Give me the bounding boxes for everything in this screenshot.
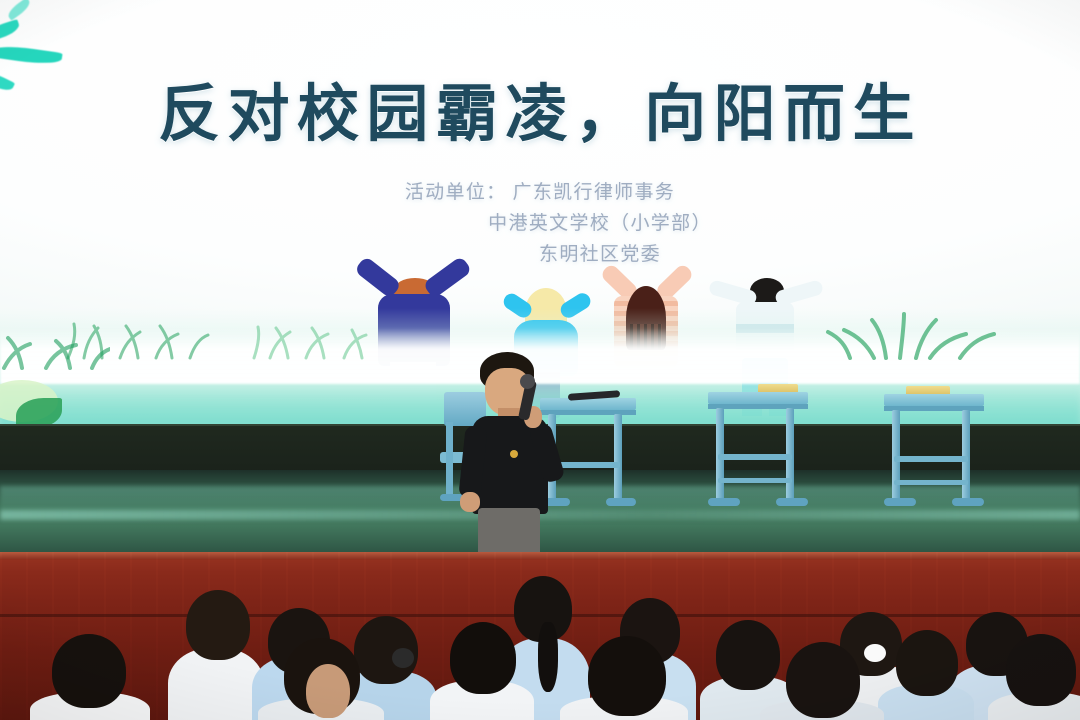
desk-right xyxy=(884,394,984,512)
student-hair-clip xyxy=(392,648,414,668)
desk-foot xyxy=(606,498,636,506)
desk-rail xyxy=(718,454,792,460)
desk-leg xyxy=(962,410,970,500)
student-head xyxy=(450,622,516,694)
grass-svg xyxy=(0,330,110,370)
microphone-head-icon xyxy=(520,374,535,389)
desk-top xyxy=(884,394,984,406)
student-face xyxy=(306,664,350,718)
speaker-lapel-pin xyxy=(510,450,518,458)
desk-rail xyxy=(894,480,968,485)
subtitle-org-2: 中港英文学校（小学部） xyxy=(0,209,1080,240)
grass-icon xyxy=(0,330,110,375)
student-ponytail xyxy=(538,622,558,692)
student-head xyxy=(52,634,126,708)
leaf-icon xyxy=(0,43,63,67)
slide-subtitle-block: 活动单位：广东凯行律师事务 中港英文学校（小学部） 东明社区党委 xyxy=(0,178,1080,270)
desk-leg xyxy=(892,410,900,500)
photo-scene: 反对校园霸凌，向阳而生 活动单位：广东凯行律师事务 中港英文学校（小学部） 东明… xyxy=(0,0,1080,720)
student-head xyxy=(786,642,860,718)
student-head xyxy=(896,630,958,696)
subtitle-line-1: 活动单位：广东凯行律师事务 xyxy=(0,178,1080,209)
subtitle-org-1: 广东凯行律师事务 xyxy=(513,182,676,203)
desk-foot xyxy=(708,498,740,506)
grass-svg xyxy=(820,312,1000,360)
leaf-icon xyxy=(0,19,21,42)
desk-center xyxy=(708,392,808,512)
grass-icon xyxy=(820,312,1000,365)
desk-foot xyxy=(776,498,808,506)
desk-foot xyxy=(952,498,984,506)
audience-group xyxy=(0,560,1080,720)
leaf-icon xyxy=(6,0,33,21)
subtitle-label: 活动单位： xyxy=(405,182,507,203)
desk-foot xyxy=(884,498,916,506)
student-head xyxy=(1006,634,1076,706)
slide-title: 反对校园霸凌，向阳而生 xyxy=(0,82,1080,147)
student-head xyxy=(186,590,250,660)
desk-leg xyxy=(614,414,622,500)
speaker-hand-left xyxy=(460,492,480,512)
desk-rail xyxy=(718,478,792,483)
student-head xyxy=(588,636,666,716)
grass-icon xyxy=(248,322,378,365)
desk-rail xyxy=(894,456,968,462)
desk-top xyxy=(708,392,808,404)
student-hair-clip xyxy=(864,644,886,662)
student-head xyxy=(716,620,780,690)
grass-svg xyxy=(248,322,378,360)
subtitle-org-3: 东明社区党委 xyxy=(0,240,1080,271)
